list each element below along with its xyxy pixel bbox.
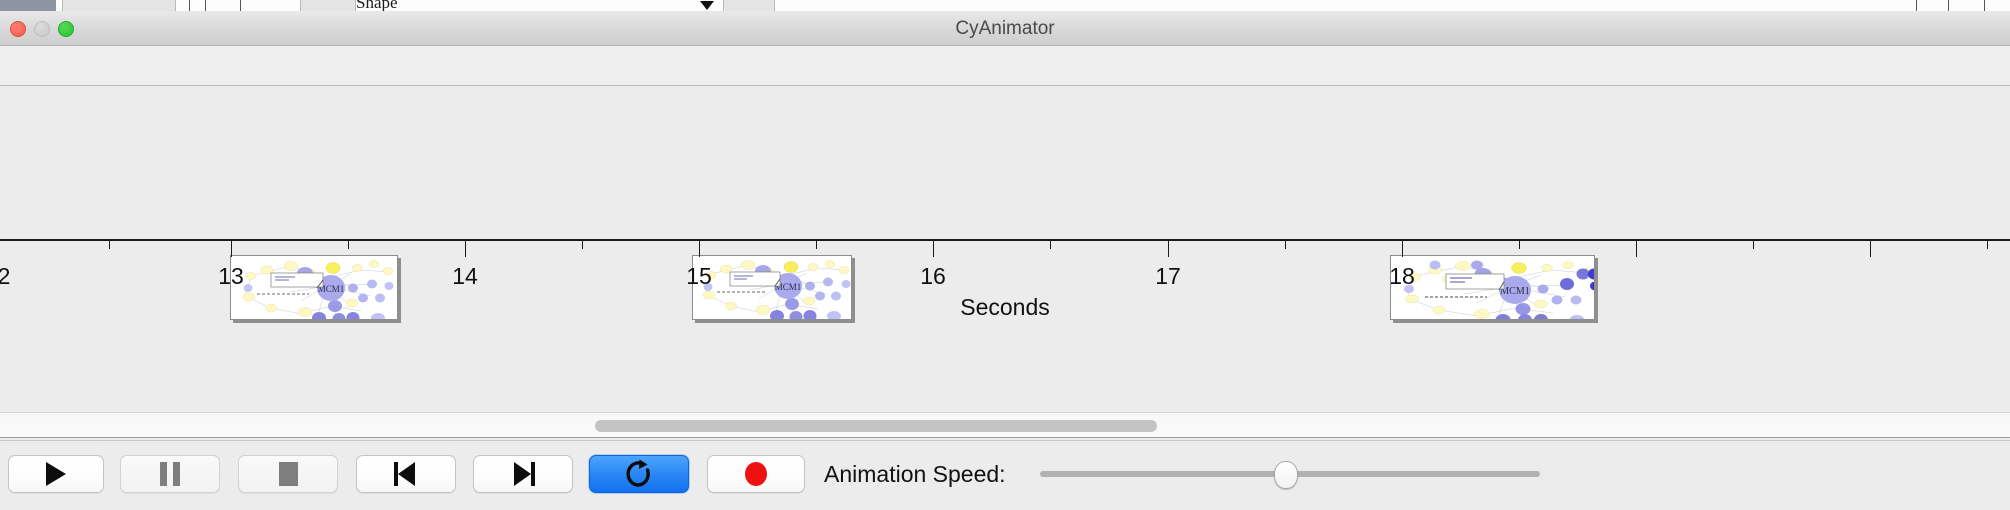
- slider-knob[interactable]: [1274, 461, 1298, 489]
- axis-tick-label: 16: [920, 263, 946, 290]
- axis-tick-minor: [109, 241, 110, 249]
- record-button[interactable]: [707, 455, 805, 493]
- axis-tick-minor: [1987, 241, 1988, 249]
- axis-tick-minor: [1285, 241, 1286, 249]
- play-button[interactable]: [8, 455, 104, 493]
- timeline-frame-1[interactable]: MCM1: [230, 255, 398, 320]
- animation-speed-slider[interactable]: [1040, 455, 1540, 493]
- record-icon: [745, 462, 767, 486]
- skip-to-end-icon: [511, 462, 535, 486]
- axis-tick-minor: [348, 241, 349, 249]
- axis-tick-label: 17: [1155, 263, 1181, 290]
- timeline-scrollbar-thumb[interactable]: [595, 420, 1157, 432]
- frame-node-label: MCM1: [1500, 286, 1529, 297]
- axis-tick-minor: [816, 241, 817, 249]
- axis-tick-major: [1870, 241, 1871, 257]
- skip-to-start-icon: [394, 462, 418, 486]
- cyanimator-window: Shape CyAnimator Clear All Frame: [0, 0, 2010, 510]
- playback-controls: Animation Speed:: [0, 440, 2010, 510]
- axis-tick-major: [1636, 241, 1637, 257]
- loop-button[interactable]: [589, 455, 689, 493]
- axis-tick-minor: [582, 241, 583, 249]
- axis-tick-label: 2: [0, 263, 10, 290]
- axis-tick-minor: [1050, 241, 1051, 249]
- loop-icon: [625, 459, 653, 489]
- stop-button[interactable]: [238, 455, 338, 493]
- title-bar: CyAnimator: [0, 11, 2010, 46]
- first-frame-button[interactable]: [356, 455, 456, 493]
- axis-tick-major: [465, 241, 466, 257]
- stop-icon: [279, 462, 298, 486]
- timeline-panel[interactable]: MCM1: [0, 87, 2010, 412]
- pause-icon: [160, 462, 180, 486]
- pause-button[interactable]: [120, 455, 220, 493]
- last-frame-button[interactable]: [473, 455, 573, 493]
- axis-tick-label: 14: [452, 263, 478, 290]
- timeline-frame-2[interactable]: MCM1: [692, 255, 852, 320]
- axis-tick-minor: [1753, 241, 1754, 249]
- timeline-ruler: 2 13 14 15 16 17 18 Seconds: [0, 87, 2010, 412]
- axis-line: [0, 239, 2010, 241]
- window-title: CyAnimator: [0, 11, 2010, 46]
- timeline-scrollbar[interactable]: [0, 412, 2010, 438]
- axis-tick-major: [933, 241, 934, 257]
- axis-tick-minor: [1519, 241, 1520, 249]
- timeline-frame-3[interactable]: MCM1: [1390, 255, 1595, 320]
- animation-speed-label: Animation Speed:: [824, 455, 1006, 493]
- axis-tick-major: [1168, 241, 1169, 257]
- play-icon: [46, 462, 66, 486]
- toolbar: Clear All Frames: [0, 46, 2010, 86]
